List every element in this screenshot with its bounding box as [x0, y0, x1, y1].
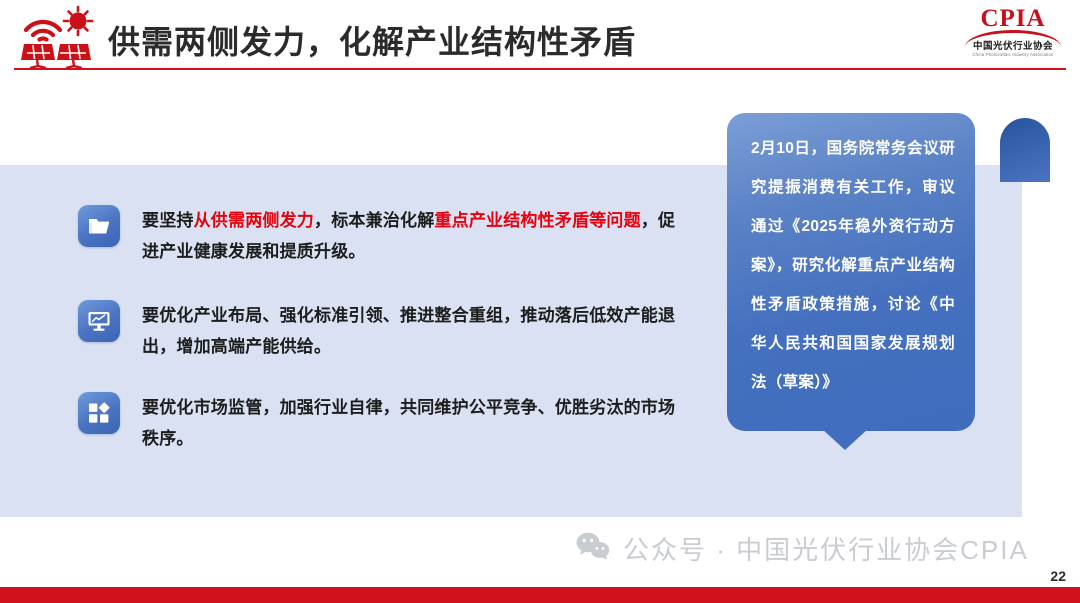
wechat-icon	[575, 531, 611, 566]
bullet-segment-highlight: 从供需两侧发力	[194, 211, 314, 230]
bullet-item: 要坚持从供需两侧发力，标本兼治化解重点产业结构性矛盾等问题，促进产业健康发展和提…	[78, 205, 678, 267]
bullet-segment: 要优化市场监管，加强行业自律，共同维护公平竞争、优胜劣汰的市场秩序。	[142, 398, 675, 448]
bullet-text: 要坚持从供需两侧发力，标本兼治化解重点产业结构性矛盾等问题，促进产业健康发展和提…	[142, 205, 678, 267]
callout-decoration-shape	[1000, 118, 1050, 182]
page-title: 供需两侧发力，化解产业结构性矛盾	[108, 17, 636, 63]
cpia-chinese-name: 中国光伏行业协会	[960, 42, 1066, 52]
watermark-text: 公众号 · 中国光伏行业协会CPIA	[623, 530, 1029, 567]
solar-panel-logo	[14, 4, 100, 68]
callout-box: 2月10日，国务院常务会议研究提振消费有关工作，审议通过《2025年稳外资行动方…	[727, 113, 975, 431]
monitor-chart-icon	[78, 300, 120, 342]
bullet-item: 要优化市场监管，加强行业自律，共同维护公平竞争、优胜劣汰的市场秩序。	[78, 392, 678, 454]
folder-icon	[78, 205, 120, 247]
page-number: 22	[1050, 568, 1066, 584]
bullet-segment-highlight: 重点产业结构性矛盾等问题	[434, 211, 640, 230]
callout-text: 2月10日，国务院常务会议研究提振消费有关工作，审议通过《2025年稳外资行动方…	[751, 129, 955, 402]
callout-pointer	[821, 428, 869, 450]
bullet-text: 要优化产业布局、强化标准引领、推进整合重组，推动落后低效产能退出，增加高端产能供…	[142, 300, 678, 362]
bullet-text: 要优化市场监管，加强行业自律，共同维护公平竞争、优胜劣汰的市场秩序。	[142, 392, 678, 454]
slide-header: 供需两侧发力，化解产业结构性矛盾 CPIA 中国光伏行业协会 China Pho…	[0, 0, 1080, 74]
cpia-wordmark: CPIA	[960, 6, 1066, 32]
footer-bar	[0, 587, 1080, 603]
bullet-segment: ，标本兼治化解	[314, 211, 434, 230]
bullet-segment: 要坚持	[142, 211, 194, 230]
header-divider	[14, 68, 1066, 70]
bullet-item: 要优化产业布局、强化标准引领、推进整合重组，推动落后低效产能退出，增加高端产能供…	[78, 300, 678, 362]
watermark: 公众号 · 中国光伏行业协会CPIA	[575, 530, 1029, 567]
cpia-logo: CPIA 中国光伏行业协会 China Photovoltaic Industr…	[960, 6, 1066, 64]
bullet-segment: 要优化产业布局、强化标准引领、推进整合重组，推动落后低效产能退出，增加高端产能供…	[142, 306, 675, 356]
grid-blocks-icon	[78, 392, 120, 434]
cpia-english-name: China Photovoltaic Industry Association	[960, 52, 1066, 58]
